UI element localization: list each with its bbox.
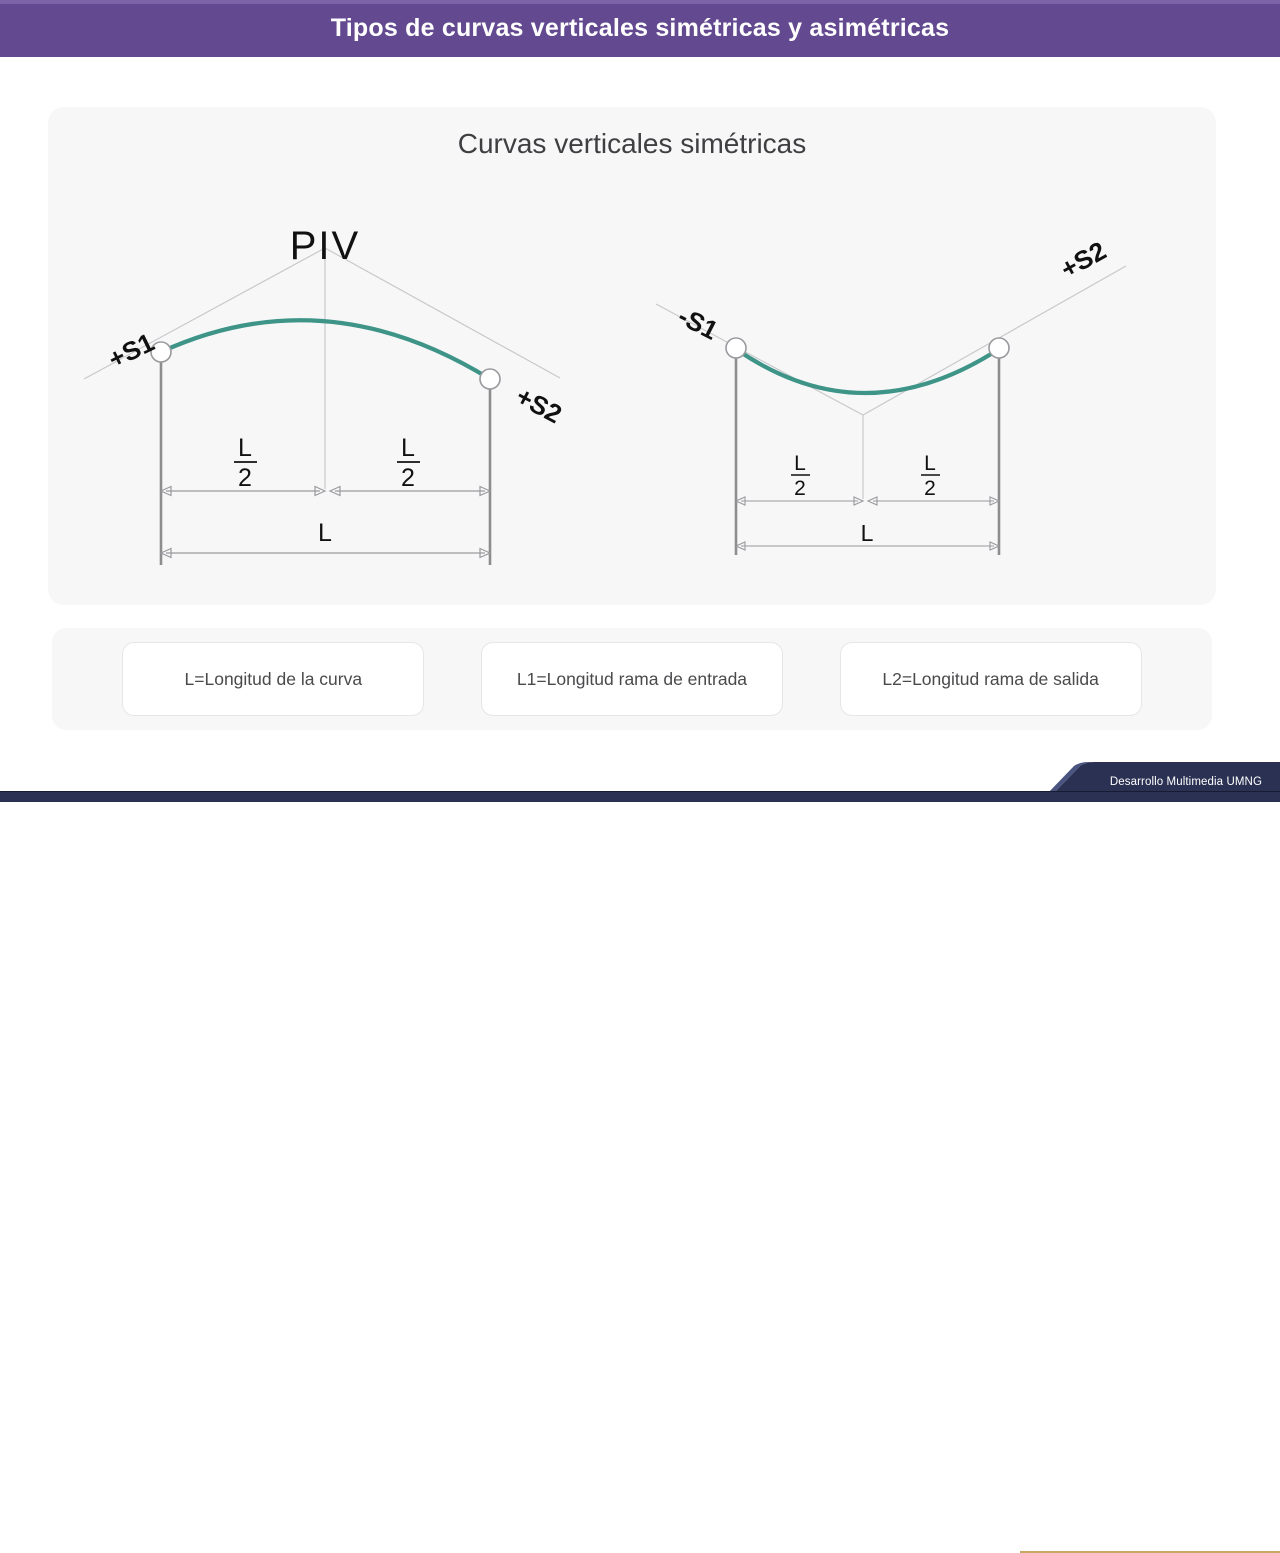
half-length-right-numerator: L (401, 434, 415, 462)
header-top-accent-strip (0, 0, 1280, 4)
legend-chip-L2[interactable]: L2=Longitud rama de salida (840, 642, 1142, 716)
tangent-lines-right-figure (656, 266, 1126, 499)
ptv-marker-circle (989, 338, 1009, 358)
grade-label-left-S1: +S1 (103, 327, 158, 375)
full-length-label: L (861, 520, 874, 546)
full-length-label: L (318, 519, 332, 547)
legend-chip-L1[interactable]: L1=Longitud rama de entrada (481, 642, 783, 716)
footer-bottom-bar (0, 791, 1280, 802)
ptv-marker-circle (480, 369, 500, 389)
half-length-label-right: L 2 (397, 434, 420, 492)
grade-label-right-S2: +S2 (511, 381, 567, 430)
half-length-right-denominator: 2 (401, 464, 415, 492)
half-length-left-denominator: 2 (794, 477, 806, 500)
half-length-label-right: L 2 (921, 452, 940, 500)
half-length-left-numerator: L (238, 434, 252, 462)
footer-credit-text: Desarrollo Multimedia UMNG (1110, 776, 1262, 788)
grade-label-left-S1: -S1 (673, 301, 723, 346)
legend-card: L=Longitud de la curva L1=Longitud rama … (52, 628, 1212, 730)
half-length-right-denominator: 2 (924, 477, 936, 500)
legend-chip-L[interactable]: L=Longitud de la curva (122, 642, 424, 716)
dimension-full-length (161, 549, 490, 558)
header-bar: Tipos de curvas verticales simétricas y … (0, 0, 1280, 57)
legend-row: L=Longitud de la curva L1=Longitud rama … (52, 628, 1212, 730)
vertical-curves-figure: PIV +S1 +S2 L 2 L 2 (48, 107, 1216, 605)
half-length-label-left: L 2 (791, 452, 810, 500)
figure-crest-curve: PIV +S1 +S2 L 2 L 2 (84, 224, 567, 565)
diagram-card: Curvas verticales simétricas PIV +S1 +S2 (48, 107, 1216, 605)
grade-label-right-S2: +S2 (1055, 235, 1111, 284)
figure-sag-curve: -S1 +S2 L 2 L 2 (656, 235, 1126, 555)
piv-apex-label: PIV (290, 224, 360, 268)
half-length-label-left: L 2 (234, 434, 257, 492)
half-length-left-denominator: 2 (238, 464, 252, 492)
half-length-left-numerator: L (794, 452, 806, 475)
pcv-marker-circle (726, 338, 746, 358)
page-title: Tipos de curvas verticales simétricas y … (331, 14, 949, 43)
half-length-right-numerator: L (924, 452, 936, 475)
tangent-out-line (325, 248, 560, 378)
sag-curve-path (736, 349, 999, 393)
